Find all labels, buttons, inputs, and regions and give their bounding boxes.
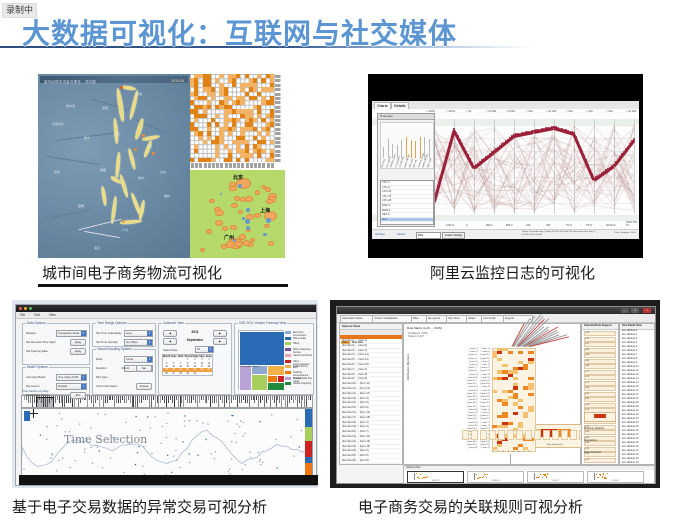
toolbar-button[interactable]: Association Rules [340, 315, 374, 323]
heatmap-row-label: { item 20 } → { item 1 } [468, 409, 490, 411]
item-detail-row[interactable]: Item attribute 20 [620, 406, 656, 409]
city-node [266, 199, 273, 204]
flow-map-date: 2014-05 [172, 79, 184, 83]
support-value: 0.59 [585, 404, 589, 406]
city-node [215, 220, 223, 226]
heatmap-cell[interactable] [513, 412, 518, 415]
heatmap-cell[interactable] [492, 447, 497, 450]
heatmap-cell[interactable] [513, 447, 518, 450]
item-detail-panel[interactable]: Item Detail View Item attribute 1Item at… [619, 323, 655, 465]
calendar-month-prev-button[interactable]: ◀ [163, 338, 177, 345]
city-node [264, 224, 270, 229]
mini-dist [498, 430, 505, 440]
heatmap-cell[interactable] [497, 358, 502, 361]
overview-sparklines: cpu_usercpu_systemmachine_loadnet_packet… [380, 122, 434, 169]
thumb-mark [603, 473, 604, 474]
calendar-day[interactable]: 27 [170, 372, 177, 376]
thumb-mark [540, 474, 541, 475]
matrix-cell [190, 158, 194, 162]
option-group-title: Time Range Options [96, 321, 127, 325]
support-value: 0.29 [585, 459, 589, 461]
treemap-block-label: Clothing Accessories [240, 366, 259, 368]
city-node [239, 234, 247, 240]
matrix-cell [261, 149, 265, 153]
matrix-cell [270, 140, 274, 144]
window-titlebar-3[interactable] [16, 305, 316, 312]
legend-label: Office [293, 342, 299, 345]
item-detail-row[interactable]: Item attribute 26 [620, 430, 656, 433]
thumb-mark [537, 477, 538, 478]
chevron-down-icon[interactable]: ▾ [147, 340, 152, 345]
matrix-cell [261, 78, 265, 82]
thumb-time-label: 10:47:12 [432, 480, 440, 482]
calendar-day[interactable] [205, 372, 213, 376]
heatmap-cell[interactable] [518, 406, 523, 409]
plot-axis-bottom-label: 5432.778 Tu [626, 221, 639, 227]
city-node [255, 190, 261, 195]
support-value: 0.92 [585, 343, 589, 345]
option-select[interactable]: Hour▾ [124, 330, 153, 337]
rule-matrix-panel[interactable]: Rule Matrix (LHS → RHS) Confidence: 0.83… [403, 323, 581, 465]
toolbar-button[interactable]: Item View [446, 315, 468, 323]
plot-axis-bottom-label: 0 [466, 224, 467, 227]
plot-axis-bottom-label: 962.4 [486, 224, 493, 227]
series-list[interactable]: CPU-1CPU-2CPU-05CPU-16CPU-28DISK-0MEM-0N… [380, 180, 434, 225]
heatmap-cell[interactable] [528, 393, 533, 396]
history-thumbnail[interactable]: 11:19:1 [587, 471, 644, 483]
item-detail-row[interactable]: Item attribute 23 [620, 418, 656, 421]
thumb-mark [597, 477, 598, 478]
heatmap-cell[interactable] [528, 351, 533, 354]
matrix-cell [249, 153, 253, 157]
calendar-next-button[interactable]: ▶ [213, 330, 227, 337]
thumb-mark [482, 477, 483, 478]
maximize-icon-4[interactable]: □ [631, 308, 639, 313]
mini-dist [561, 430, 568, 440]
legend-swatch [285, 348, 291, 351]
support-value: 0.98 [585, 332, 589, 334]
thumb-mark [487, 474, 488, 475]
city-node-highlight [242, 217, 245, 220]
itemset-row[interactable]: {ItemSet-27} → {Item-11} [340, 464, 402, 465]
support-value: 0.56 [585, 409, 589, 411]
heatmap-row-label: { item 23 } → { item 16 } [467, 418, 490, 420]
treemap[interactable]: Clothing Accessories [238, 330, 284, 390]
recording-badge: 录制中 [2, 3, 37, 18]
option-label: Color Information [96, 384, 117, 388]
city-node [235, 241, 243, 247]
option-label: Anomaly Model [26, 375, 45, 379]
item-detail-row[interactable]: Item attribute 17 [620, 394, 656, 397]
thumb-mark [484, 474, 485, 475]
footer-button[interactable]: Details [397, 232, 405, 237]
thumb-mark [426, 477, 427, 478]
plot-background-line [614, 125, 634, 126]
selected-rule-support-panel[interactable]: Selected Rule Support 0.980.950.920.890.… [581, 323, 619, 465]
plot-axis-top-label: < 100% [446, 110, 455, 113]
city-node [250, 238, 255, 242]
heatmap-cell[interactable] [513, 370, 518, 373]
item-detail-row[interactable]: Item attribute 22 [620, 414, 656, 417]
item-detail-row[interactable]: Item attribute 30 [620, 446, 656, 449]
support-value: 0.71 [585, 382, 589, 384]
item-detail-row[interactable]: Item attribute 1 [620, 330, 656, 333]
heatmap-row-label: { item 21 } → { item 6 } [468, 412, 490, 414]
chevron-down-icon[interactable]: ▾ [147, 331, 152, 336]
heatmap-cell[interactable] [508, 422, 513, 425]
heatmap-cell[interactable] [523, 415, 528, 418]
select-date-select[interactable]: 15▾ [195, 346, 214, 353]
matrix-cell [253, 96, 257, 100]
city-node [243, 240, 250, 245]
option-select[interactable]: One-Class SVM▾ [56, 374, 87, 381]
heatmap-cell[interactable] [502, 425, 507, 428]
heatmap-cell[interactable] [528, 386, 533, 389]
window-titlebar-4[interactable]: _ □ × [337, 307, 655, 314]
thumb-mark [602, 476, 603, 477]
item-detail-row[interactable]: Item attribute 15 [620, 386, 656, 389]
option-button[interactable]: Choose [136, 383, 152, 390]
calendar-day[interactable] [198, 372, 205, 376]
legend-swatch [285, 377, 291, 380]
footer-apply-button[interactable]: Custom Settings [442, 232, 466, 239]
matrix-cell [203, 114, 207, 118]
heatmap-cell[interactable] [508, 351, 513, 354]
plot-axis-bottom-label: 300 [546, 224, 550, 227]
option-group-title: Model Options [26, 365, 49, 369]
item-detail-row[interactable]: Item attribute 11 [620, 370, 656, 373]
heatmap-cell[interactable] [513, 386, 518, 389]
legend-swatch [285, 337, 291, 340]
item-detail-row[interactable]: Item attribute 3 [620, 338, 656, 341]
option-label: Recalculate Model [26, 393, 49, 397]
option-group: Data OptionsDatasetTransaction Data▾Set … [22, 323, 90, 365]
heatmap-cell[interactable] [502, 364, 507, 367]
option-select[interactable]: Default▾ [56, 383, 87, 390]
matrix-cell [261, 140, 265, 144]
option-group: Visual Encoding OptionsMarkCircle▾Durati… [92, 349, 156, 395]
toolbar-4[interactable]: Association RulesCluster VisualizationFi… [337, 314, 655, 323]
mini-dist [480, 430, 487, 440]
legend-label: Outdoor Sporting [293, 382, 311, 385]
figure-association-rules: _ □ × Association RulesCluster Visualiza… [330, 300, 660, 488]
timeline-label: Time Series Log Map [22, 389, 48, 393]
item-detail-row[interactable]: Item attribute 18 [620, 398, 656, 401]
option-label: Set Records Time Span [26, 340, 56, 344]
calendar-year: 2011 [191, 330, 198, 334]
option-button[interactable]: Apply [70, 339, 86, 346]
heatmap-cell[interactable] [492, 390, 497, 393]
item-detail-row[interactable]: Item attribute 25 [620, 426, 656, 429]
history-thumbnail[interactable]: 10:47:12 [407, 471, 464, 483]
maximize-icon[interactable] [29, 307, 32, 310]
heatmap-cell[interactable] [518, 425, 523, 428]
option-group-title: Data Options [26, 321, 47, 325]
option-button[interactable]: Apply [70, 348, 86, 355]
matrix-cell [194, 149, 198, 153]
option-group-title: Calendar View [162, 321, 185, 325]
matrix-cell [240, 100, 244, 104]
treemap-block[interactable] [239, 331, 285, 367]
menubar-3[interactable]: FileEditView [16, 312, 316, 319]
toolbar-button[interactable]: Re-Layout [426, 315, 448, 323]
calendar-prev-button[interactable]: ◀ [163, 330, 177, 337]
mini-dist [507, 430, 514, 440]
city-node-highlight [238, 184, 242, 188]
item-detail-row[interactable]: Item attribute 5 [620, 346, 656, 349]
option-select[interactable]: Transaction Data▾ [56, 330, 87, 337]
toolbar-button[interactable]: Cluster Visualization [372, 315, 413, 323]
chevron-down-icon[interactable]: ▾ [208, 347, 213, 352]
thumb-mark [416, 473, 417, 474]
thumb-mark [606, 478, 607, 479]
footer-status-right: Data Complete: 100% [615, 232, 636, 234]
support-value: 0.62 [585, 398, 589, 400]
menu-item[interactable]: File [20, 313, 25, 317]
city-node [222, 226, 229, 231]
matrix-cell [270, 87, 274, 91]
close-icon-4[interactable]: × [643, 308, 651, 313]
thumb-time-label: 11:15:7 [552, 480, 559, 482]
menu-item[interactable]: Edit [34, 313, 40, 317]
history-thumbnail[interactable]: 11:15:7 [527, 471, 584, 483]
heatmap-row-label: { item 31 } → { item 18 } [467, 444, 490, 446]
footer-input[interactable]: 0001 [416, 232, 441, 239]
option-button[interactable]: Set [136, 365, 152, 372]
legend-swatch [285, 382, 291, 385]
close-icon[interactable] [19, 307, 22, 310]
plot-axis-bottom-label: 0.00 % [446, 224, 454, 227]
item-detail-row[interactable]: Item attribute 27 [620, 434, 656, 437]
color-scale-segment [305, 427, 312, 441]
heatmap-row-label: { item 5 } → { item 2 } [469, 361, 490, 363]
overview-title: Overview [378, 114, 434, 120]
thumb-time-label: 11:19:1 [612, 480, 619, 482]
option-group: Calendar View◀2011▶◀September▶Select Dat… [158, 323, 232, 395]
matrix-cell [194, 118, 198, 122]
heatmap-cell[interactable] [518, 351, 523, 354]
app-window-4: _ □ × Association RulesCluster Visualiza… [336, 306, 656, 484]
heatmap-row-label: { item 10 } → { item 8 } [468, 377, 490, 379]
heatmap-cell[interactable] [528, 409, 533, 412]
overview-side-panel[interactable]: Overview cpu_usercpu_systemmachine_loadn… [377, 113, 435, 227]
city-node [268, 241, 274, 246]
history-panel[interactable]: History View 10:47:1211:05:1311:15:711:1… [403, 465, 655, 484]
thumb-mark [486, 477, 487, 478]
flow-map-panel: 城市间物流流量可视化 - 流向图 2014-05 哈尔滨 沈阳 [38, 74, 190, 258]
matrix-cell [232, 83, 236, 87]
item-detail-row[interactable]: Item attribute 4 [620, 342, 656, 345]
item-detail-row[interactable]: Item attribute 12 [620, 374, 656, 377]
plot-axis-top-label: < 10,000 [626, 110, 636, 113]
heatmap-cell[interactable] [528, 361, 533, 364]
plot-axis-bottom-label: 864.0 [506, 224, 513, 227]
legend-swatch [285, 331, 291, 334]
item-detail-row[interactable]: Item attribute 14 [620, 382, 656, 385]
city-node-map: 北京上海广州 [190, 170, 285, 258]
city-node [231, 203, 238, 208]
detail-label: Item Subset (%) [547, 444, 563, 446]
plot-axis-top-label: < 10,000 [546, 110, 556, 113]
matrix-cell [236, 118, 240, 122]
item-detail-row[interactable]: Item attribute 2 [620, 334, 656, 337]
mini-dist [489, 430, 496, 440]
thumb-mark [420, 474, 421, 475]
figure-abnormal-transaction: FileEditView Time Selection Data Options… [12, 300, 318, 488]
matrix-cell [245, 158, 249, 162]
item-detail-row[interactable]: Item attribute 8 [620, 358, 656, 361]
option-group-title: Visual Encoding Options [96, 347, 133, 351]
heatmap-cell[interactable] [497, 444, 502, 447]
select-date-label: Select Date [163, 348, 177, 352]
calendar-day[interactable]: 29 [184, 372, 191, 376]
heatmap-cell[interactable] [513, 377, 518, 380]
thumb-mark [544, 474, 545, 475]
plot-axis-bottom-label: 75 % [586, 224, 592, 227]
heatmap-cell[interactable] [497, 351, 502, 354]
footer-button[interactable]: All Clear [375, 232, 385, 237]
calendar-day[interactable]: 28 [177, 372, 184, 376]
page-title: 大数据可视化：互联网与社交媒体 [22, 12, 457, 52]
heatmap-row-label: { item 18 } → { item 10 } [467, 402, 490, 404]
thumb-mark [476, 474, 477, 475]
item-detail-row[interactable]: Item attribute 19 [620, 402, 656, 405]
figure-caption-2: 阿里云监控日志的可视化 [430, 262, 595, 283]
thumb-mark [546, 476, 547, 477]
legend-swatch [285, 371, 291, 374]
matrix-cell [228, 131, 232, 135]
calendar-month-next-button[interactable]: ▶ [213, 338, 227, 345]
item-detail-row[interactable]: Item attribute 10 [620, 366, 656, 369]
heatmap-row-label: { item 8 } → { item 17 } [468, 370, 490, 372]
plot-axis-bottom-label: 40.00 % [606, 224, 616, 227]
chevron-down-icon[interactable]: ▾ [81, 331, 86, 336]
calendar-table[interactable]: MonthTuesWedThursFridaySatuSunn123456789… [162, 354, 213, 376]
item-detail-row[interactable]: Item attribute 29 [620, 442, 656, 445]
support-value: 0.35 [585, 448, 589, 450]
minimize-icon[interactable] [24, 307, 27, 310]
heatmap-col-label: 7 [523, 451, 524, 453]
option-button[interactable]: Run [70, 392, 86, 399]
treemap-block[interactable] [267, 382, 285, 391]
item-detail-row[interactable]: Item attribute 21 [620, 410, 656, 413]
app-window-3: FileEditView Time Selection Data Options… [15, 304, 317, 486]
thumb-mark [596, 474, 597, 475]
thumb-axis [414, 473, 415, 480]
chart-footer-bar[interactable]: All ClearDetails0001Custom SettingsValue… [372, 229, 639, 239]
series-list-item[interactable]: IO-4 [381, 218, 433, 223]
thumb-axis [534, 473, 535, 480]
window-footer-3 [19, 475, 318, 485]
calendar-day[interactable]: 26 [163, 372, 171, 376]
heatmap-cell[interactable] [523, 367, 528, 370]
sparkline-label: disk_order [427, 158, 432, 168]
heatmap-cell[interactable] [502, 402, 507, 405]
time-selection-overlay-label: Time Selection [64, 433, 147, 446]
city-node-highlight [263, 233, 267, 237]
support-value: 0.74 [585, 376, 589, 378]
heatmap-cell[interactable] [502, 415, 507, 418]
heatmap-cell[interactable] [528, 377, 533, 380]
support-value: 0.65 [585, 393, 589, 395]
city-node-highlight [220, 193, 222, 195]
figure-caption-3: 基于电子交易数据的异常交易可视分析 [12, 496, 267, 517]
heatmap-row-label: { item 11 } → { item 13 } [467, 380, 490, 382]
heatmap-row-label: { item 13 } → { item 4 } [468, 386, 490, 388]
item-detail-row[interactable]: Item attribute 13 [620, 378, 656, 381]
matrix-row-labels [275, 74, 285, 162]
thumb-mark [483, 476, 484, 477]
item-detail-row[interactable]: Item attribute 16 [620, 390, 656, 393]
heatmap-col-label: 3 [502, 451, 503, 453]
support-value: 0.86 [585, 354, 589, 356]
option-label: Dataset [26, 331, 36, 335]
chevron-down-icon[interactable]: ▾ [81, 375, 86, 380]
item-detail-row[interactable]: Item attribute 6 [620, 350, 656, 353]
city-node [209, 199, 215, 204]
heatmap-cell[interactable] [518, 399, 523, 402]
history-panel-title: History View [404, 466, 654, 470]
chevron-down-icon[interactable]: ▾ [147, 357, 152, 362]
heatmap-cell[interactable] [523, 447, 528, 450]
heatmap-row-label: { item 30 } → { item 13 } [467, 441, 490, 443]
scrubber-handle[interactable] [36, 397, 54, 408]
option-select[interactable]: No Offset▾ [124, 339, 153, 346]
city-node [215, 210, 224, 217]
matrix-cell [215, 114, 219, 118]
legend-label: Mobile Phone [293, 365, 308, 368]
matrix-cell [228, 158, 232, 162]
option-group: Time Range OptionsSet Time GranularityHo… [92, 323, 156, 347]
city-node [240, 197, 246, 202]
option-select[interactable]: Circle▾ [124, 356, 153, 363]
matrix-cell [270, 100, 274, 104]
plot-background-line [474, 207, 494, 209]
calendar-day[interactable]: 30 [191, 372, 198, 376]
item-detail-row[interactable]: Item attribute 32 [620, 454, 656, 457]
option-label: Set Layout [26, 384, 39, 388]
support-highlight-bar [594, 414, 606, 418]
city-node [200, 248, 205, 252]
heatmap-row-label: { item 15 } → { item 14 } [467, 393, 490, 395]
item-detail-row[interactable]: Item attribute 9 [620, 362, 656, 365]
itemset-list-panel[interactable]: Itemset View ItemsItem Sets {ItemSet-1} … [339, 323, 403, 465]
city-label-beijing: 北京 [233, 174, 243, 181]
item-detail-row[interactable]: Item attribute 7 [620, 354, 656, 357]
support-value: 0.95 [585, 338, 589, 340]
item-detail-row[interactable]: Item attribute 24 [620, 422, 656, 425]
mini-dist [570, 430, 577, 440]
heatmap-row-label: { item 25 } → { item 7 } [468, 425, 490, 427]
mini-dist [552, 430, 559, 440]
option-label: Plot Type [96, 375, 108, 379]
rule-matrix-title: Rule Matrix (LHS → RHS) [407, 326, 442, 330]
chevron-down-icon[interactable]: ▾ [81, 384, 86, 389]
item-detail-row[interactable]: Item attribute 28 [620, 438, 656, 441]
thumb-mark [542, 477, 543, 478]
timeline-scrubber[interactable] [21, 395, 313, 408]
history-thumbnail[interactable]: 11:05:13 [467, 471, 524, 483]
heatmap-cell[interactable] [502, 377, 507, 380]
menu-item[interactable]: View [49, 313, 56, 317]
item-detail-row[interactable]: Item attribute 31 [620, 450, 656, 453]
toolbar-button[interactable]: Item Order [481, 315, 505, 323]
legend-label: Camera & Optical [293, 354, 312, 357]
legend-swatch [285, 365, 291, 368]
matrix-cell [270, 122, 274, 126]
minimize-icon-4[interactable]: _ [621, 308, 629, 313]
item-detail-row[interactable]: Item attribute 33 [620, 458, 656, 461]
